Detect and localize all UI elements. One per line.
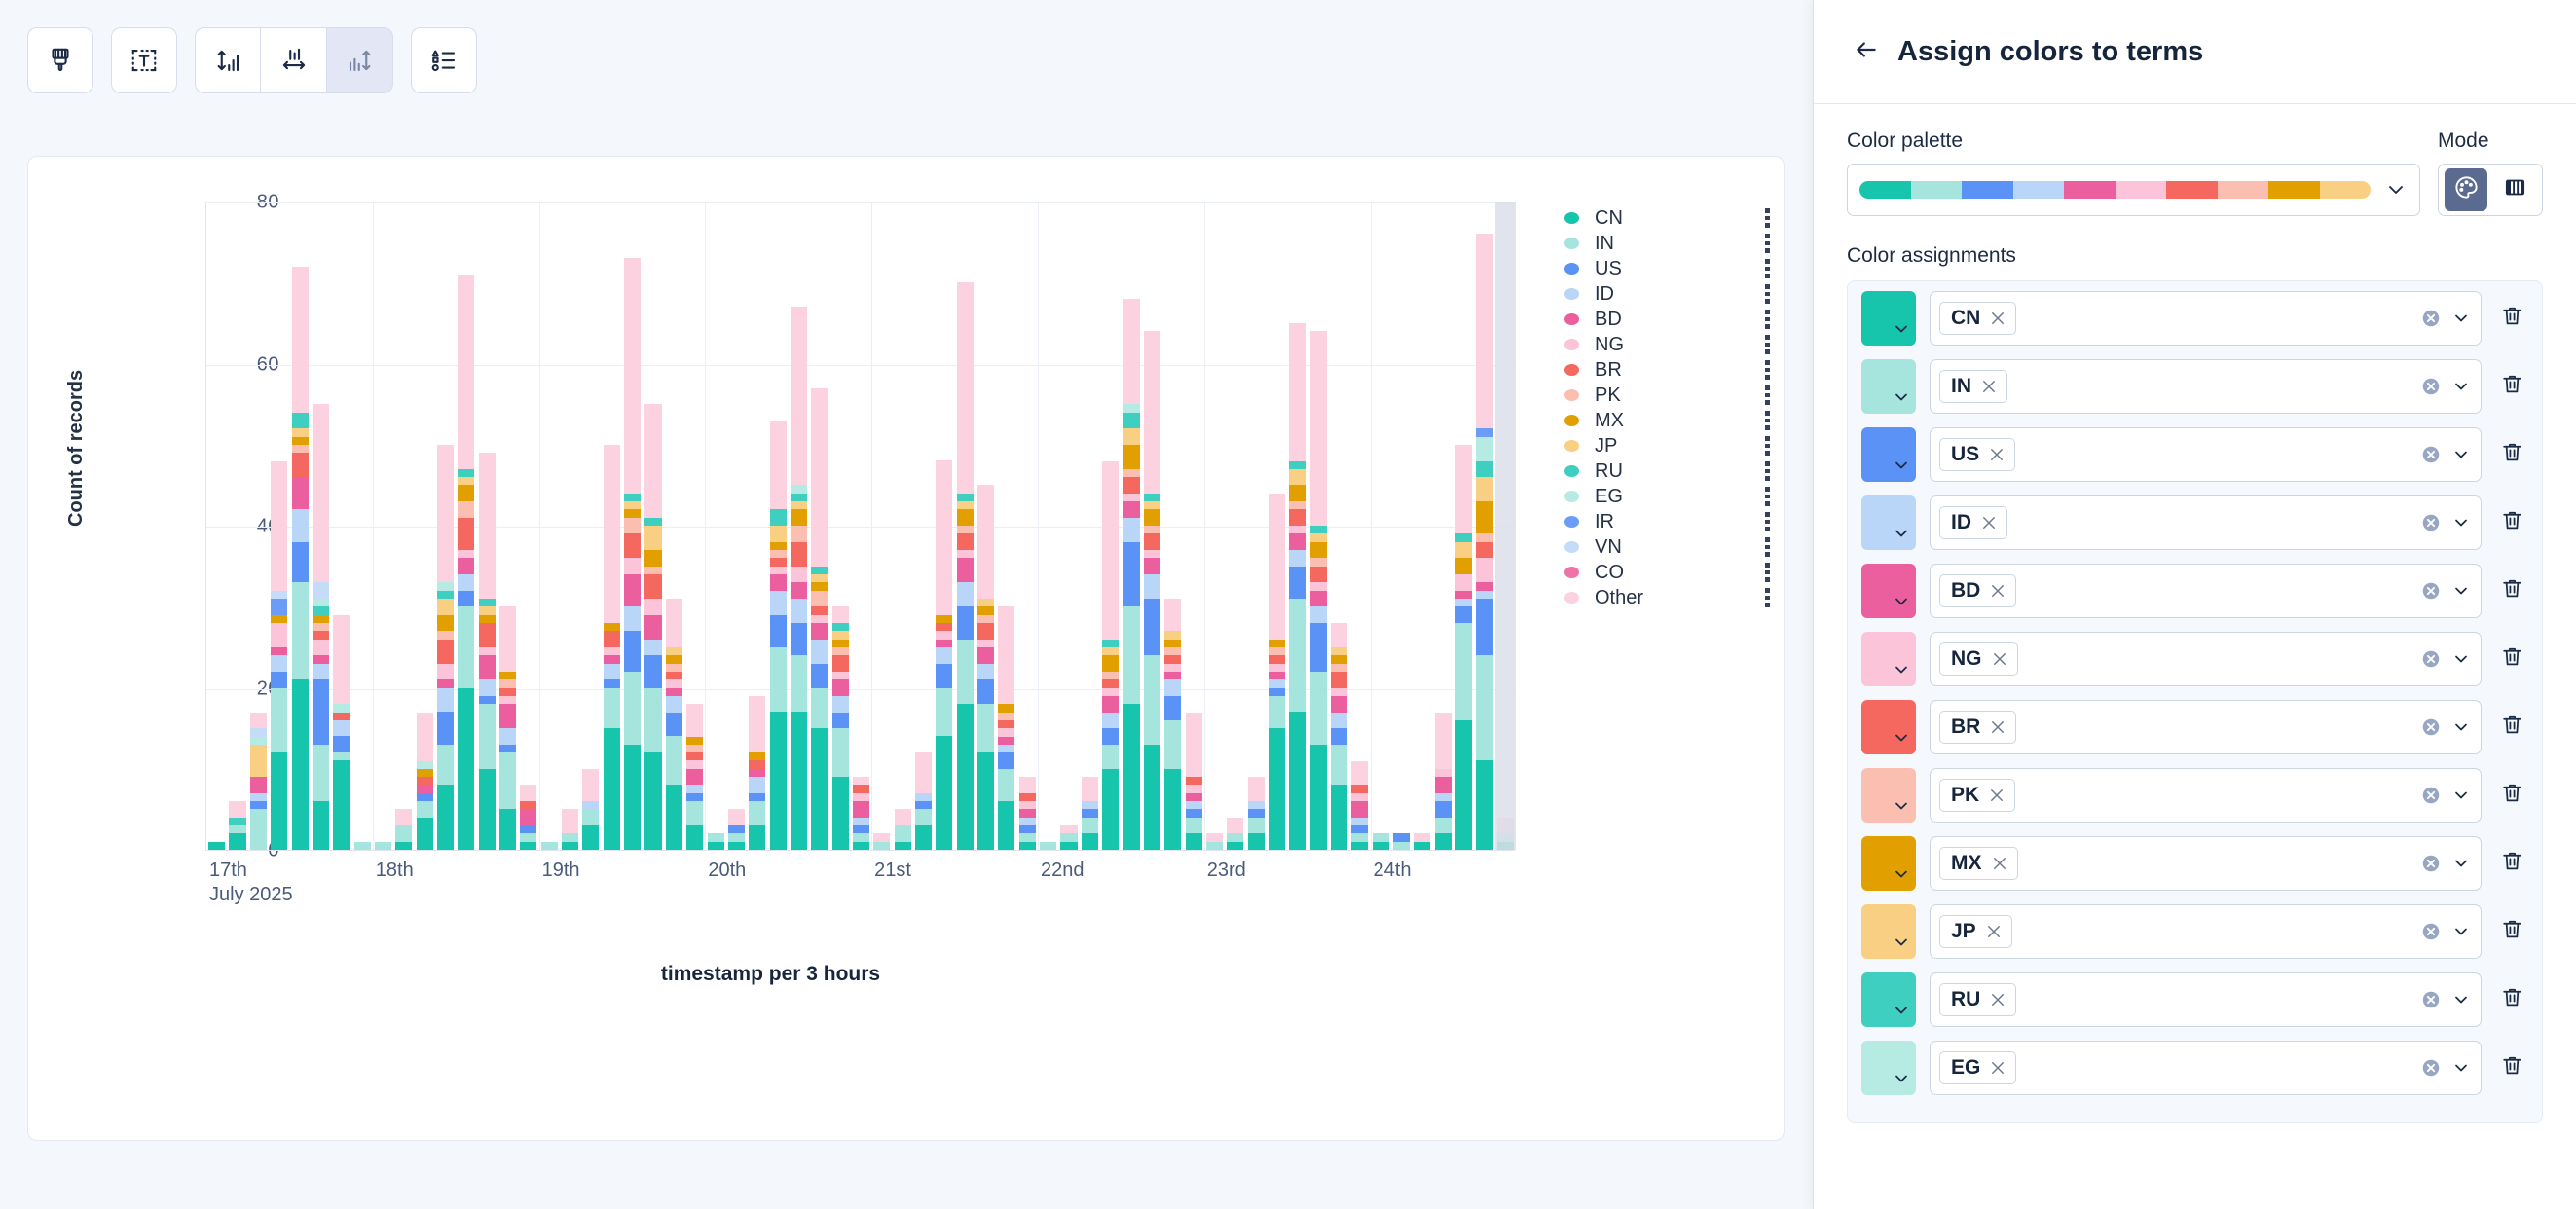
palette-mode-button[interactable] <box>2445 168 2487 211</box>
bar-segment[interactable] <box>1123 413 1140 429</box>
bar-segment[interactable] <box>499 704 516 728</box>
legend-item-menu-icon[interactable] <box>1760 310 1774 329</box>
stacked-bar[interactable] <box>1351 760 1368 850</box>
bar-segment[interactable] <box>1269 640 1285 647</box>
bar-segment[interactable] <box>1102 640 1119 647</box>
bar-segment[interactable] <box>1019 801 1036 809</box>
text-box-icon-button[interactable] <box>111 27 177 93</box>
bar-segment[interactable] <box>791 485 807 493</box>
color-swatch-picker-pk[interactable] <box>1861 768 1916 823</box>
stacked-bar[interactable] <box>1040 842 1056 850</box>
color-swatch-picker-us[interactable] <box>1861 427 1916 482</box>
bar-segment[interactable] <box>832 672 849 679</box>
chart-sort-icon-button[interactable] <box>327 27 393 93</box>
remove-term-icon[interactable] <box>1988 446 2006 463</box>
bar-segment[interactable] <box>853 785 869 792</box>
bar-segment[interactable] <box>1123 299 1140 404</box>
bar-segment[interactable] <box>271 672 287 688</box>
bar-segment[interactable] <box>1019 809 1036 817</box>
bar-segment[interactable] <box>895 842 911 850</box>
bar-segment[interactable] <box>977 615 994 623</box>
bar-segment[interactable] <box>313 801 329 850</box>
bar-segment[interactable] <box>624 509 641 517</box>
bar-segment[interactable] <box>1476 533 1492 541</box>
bar-segment[interactable] <box>1331 785 1347 850</box>
bar-segment[interactable] <box>1331 664 1347 672</box>
legend-item-br[interactable]: BR <box>1564 357 1774 383</box>
bar-segment[interactable] <box>499 679 516 687</box>
bar-segment[interactable] <box>811 591 828 607</box>
bar-segment[interactable] <box>313 606 329 614</box>
bar-segment[interactable] <box>604 623 620 631</box>
term-combobox-jp[interactable]: JP <box>1930 904 2482 959</box>
stacked-bar[interactable] <box>957 282 974 850</box>
delete-assignment-button[interactable] <box>2495 440 2528 469</box>
bar-segment[interactable] <box>1144 745 1160 850</box>
color-swatch-picker-ng[interactable] <box>1861 632 1916 686</box>
bar-segment[interactable] <box>915 793 932 801</box>
bar-segment[interactable] <box>1164 655 1181 663</box>
bar-segment[interactable] <box>417 761 433 769</box>
legend-item-menu-icon[interactable] <box>1760 487 1774 506</box>
bar-segment[interactable] <box>1435 801 1452 818</box>
bar-segment[interactable] <box>791 567 807 583</box>
bar-segment[interactable] <box>292 437 309 445</box>
bar-segment[interactable] <box>873 833 890 841</box>
chart-vertical-axis-icon-button[interactable] <box>195 27 261 93</box>
bar-segment[interactable] <box>1164 599 1181 631</box>
stacked-bar[interactable] <box>604 445 620 850</box>
bar-segment[interactable] <box>1289 533 1306 550</box>
bar-segment[interactable] <box>1331 713 1347 729</box>
stacked-bar[interactable] <box>1455 445 1472 850</box>
bar-segment[interactable] <box>1248 818 1265 834</box>
bar-segment[interactable] <box>479 679 496 696</box>
bar-segment[interactable] <box>458 477 474 485</box>
bar-segment[interactable] <box>977 640 994 647</box>
bar-segment[interactable] <box>832 777 849 850</box>
bar-segment[interactable] <box>624 745 641 850</box>
bar-segment[interactable] <box>1123 469 1140 477</box>
bar-segment[interactable] <box>250 713 267 729</box>
stacked-bar[interactable] <box>728 809 745 850</box>
bar-segment[interactable] <box>437 582 454 590</box>
bar-segment[interactable] <box>333 720 350 737</box>
bar-segment[interactable] <box>770 526 787 542</box>
remove-term-icon[interactable] <box>1991 855 2008 872</box>
bar-segment[interactable] <box>1123 494 1140 501</box>
bar-segment[interactable] <box>770 712 787 850</box>
bar-segment[interactable] <box>1351 761 1368 786</box>
bar-segment[interactable] <box>853 842 869 850</box>
stacked-bar[interactable] <box>417 712 433 850</box>
bar-segment[interactable] <box>1455 720 1472 850</box>
bar-segment[interactable] <box>417 801 433 818</box>
bar-segment[interactable] <box>957 533 974 550</box>
bar-segment[interactable] <box>1269 494 1285 640</box>
bar-segment[interactable] <box>1144 331 1160 493</box>
stacked-bar[interactable] <box>1206 833 1223 850</box>
bar-segment[interactable] <box>873 842 890 850</box>
bar-segment[interactable] <box>853 801 869 818</box>
bar-segment[interactable] <box>1351 793 1368 801</box>
bar-segment[interactable] <box>1269 672 1285 679</box>
bar-segment[interactable] <box>1082 801 1098 809</box>
bar-segment[interactable] <box>791 582 807 599</box>
term-combobox-in[interactable]: IN <box>1930 359 2482 414</box>
stacked-bar[interactable] <box>686 704 703 850</box>
bar-segment[interactable] <box>1186 833 1202 850</box>
bar-segment[interactable] <box>1310 567 1327 583</box>
bar-segment[interactable] <box>250 809 267 850</box>
stacked-bar[interactable] <box>1227 818 1243 850</box>
legend-item-id[interactable]: ID <box>1564 281 1774 307</box>
bar-segment[interactable] <box>957 582 974 606</box>
bar-segment[interactable] <box>458 275 474 469</box>
bar-segment[interactable] <box>977 623 994 640</box>
bar-segment[interactable] <box>292 453 309 477</box>
chevron-down-icon[interactable] <box>2451 854 2471 873</box>
bar-segment[interactable] <box>333 713 350 720</box>
bar-segment[interactable] <box>1393 842 1410 850</box>
bar-segment[interactable] <box>499 688 516 696</box>
stacked-bar[interactable] <box>1082 777 1098 850</box>
stacked-bar[interactable] <box>479 453 496 850</box>
bar-segment[interactable] <box>791 509 807 526</box>
bar-segment[interactable] <box>1227 842 1243 850</box>
bar-segment[interactable] <box>1102 696 1119 713</box>
bar-segment[interactable] <box>1435 713 1452 769</box>
bar-segment[interactable] <box>437 785 454 850</box>
bar-segment[interactable] <box>582 809 599 825</box>
bar-segment[interactable] <box>520 809 536 825</box>
bar-segment[interactable] <box>1476 599 1492 655</box>
clear-selection-icon[interactable] <box>2420 1057 2442 1079</box>
bar-segment[interactable] <box>1102 688 1119 696</box>
bar-segment[interactable] <box>998 745 1014 752</box>
bar-segment[interactable] <box>1289 323 1306 461</box>
bar-segment[interactable] <box>1186 809 1202 817</box>
bar-segment[interactable] <box>1102 647 1119 655</box>
bar-segment[interactable] <box>1123 606 1140 704</box>
bar-segment[interactable] <box>728 825 745 833</box>
bar-segment[interactable] <box>1102 745 1119 769</box>
bar-segment[interactable] <box>1455 574 1472 591</box>
bar-segment[interactable] <box>1164 647 1181 655</box>
bar-segment[interactable] <box>417 777 433 785</box>
bar-segment[interactable] <box>604 445 620 623</box>
bar-segment[interactable] <box>1269 696 1285 728</box>
bar-segment[interactable] <box>770 647 787 713</box>
bar-segment[interactable] <box>666 696 682 713</box>
bar-segment[interactable] <box>624 558 641 574</box>
bar-segment[interactable] <box>957 550 974 558</box>
bar-segment[interactable] <box>811 623 828 640</box>
bar-segment[interactable] <box>1455 542 1472 559</box>
delete-assignment-button[interactable] <box>2495 917 2528 946</box>
bar-segment[interactable] <box>458 550 474 558</box>
bar-segment[interactable] <box>915 809 932 825</box>
bar-segment[interactable] <box>1455 606 1472 623</box>
bar-segment[interactable] <box>1310 623 1327 672</box>
bar-segment[interactable] <box>1186 818 1202 834</box>
bar-segment[interactable] <box>728 809 745 825</box>
stacked-bar[interactable] <box>1248 777 1265 850</box>
bar-segment[interactable] <box>1082 809 1098 817</box>
clear-selection-icon[interactable] <box>2420 308 2442 329</box>
bar-segment[interactable] <box>1351 785 1368 792</box>
bar-segment[interactable] <box>1019 833 1036 841</box>
chevron-down-icon[interactable] <box>2451 786 2471 805</box>
bar-segment[interactable] <box>644 404 661 518</box>
bar-segment[interactable] <box>437 615 454 632</box>
bar-segment[interactable] <box>791 526 807 542</box>
bar-segment[interactable] <box>1123 501 1140 518</box>
bar-segment[interactable] <box>832 713 849 729</box>
bar-segment[interactable] <box>458 485 474 501</box>
bar-segment[interactable] <box>250 728 267 736</box>
bar-segment[interactable] <box>936 688 952 737</box>
bar-segment[interactable] <box>271 615 287 623</box>
bar-segment[interactable] <box>1393 833 1410 841</box>
bar-segment[interactable] <box>1102 672 1119 679</box>
bar-segment[interactable] <box>915 825 932 850</box>
delete-assignment-button[interactable] <box>2495 1053 2528 1082</box>
bar-segment[interactable] <box>1331 728 1347 745</box>
bar-segment[interactable] <box>333 736 350 752</box>
chevron-down-icon[interactable] <box>2451 309 2471 328</box>
bar-segment[interactable] <box>1248 777 1265 801</box>
bar-segment[interactable] <box>936 615 952 623</box>
stacked-bar[interactable] <box>1289 323 1306 850</box>
bar-segment[interactable] <box>1164 696 1181 720</box>
bar-segment[interactable] <box>770 509 787 526</box>
bar-segment[interactable] <box>1060 842 1077 850</box>
stacked-bar[interactable] <box>811 387 828 850</box>
bar-segment[interactable] <box>1144 599 1160 655</box>
bar-segment[interactable] <box>479 696 496 704</box>
bar-segment[interactable] <box>666 672 682 679</box>
bar-segment[interactable] <box>1269 728 1285 850</box>
bar-segment[interactable] <box>811 664 828 688</box>
bar-segment[interactable] <box>437 631 454 639</box>
bar-segment[interactable] <box>479 769 496 850</box>
bar-segment[interactable] <box>292 679 309 850</box>
bar-segment[interactable] <box>666 688 682 696</box>
bar-segment[interactable] <box>479 599 496 606</box>
term-combobox-ru[interactable]: RU <box>1930 972 2482 1027</box>
bar-segment[interactable] <box>811 606 828 614</box>
bar-segment[interactable] <box>375 842 391 850</box>
term-combobox-bd[interactable]: BD <box>1930 564 2482 618</box>
bar-segment[interactable] <box>977 599 994 606</box>
bar-segment[interactable] <box>624 258 641 493</box>
stacked-bar[interactable] <box>832 606 849 850</box>
bar-segment[interactable] <box>313 664 329 680</box>
bar-segment[interactable] <box>957 558 974 582</box>
bar-segment[interactable] <box>1269 655 1285 663</box>
stacked-bar[interactable] <box>853 777 869 850</box>
bar-segment[interactable] <box>417 713 433 761</box>
bar-segment[interactable] <box>229 825 245 833</box>
bar-segment[interactable] <box>624 672 641 745</box>
bar-segment[interactable] <box>271 461 287 591</box>
bar-segment[interactable] <box>686 801 703 825</box>
bar-segment[interactable] <box>417 769 433 777</box>
bar-segment[interactable] <box>1414 842 1430 850</box>
bar-segment[interactable] <box>998 737 1014 745</box>
bar-segment[interactable] <box>250 801 267 809</box>
bar-segment[interactable] <box>998 713 1014 720</box>
bar-segment[interactable] <box>604 679 620 687</box>
bar-segment[interactable] <box>624 501 641 509</box>
bar-segment[interactable] <box>998 606 1014 704</box>
legend-item-other[interactable]: Other <box>1564 585 1774 610</box>
bar-segment[interactable] <box>1476 655 1492 760</box>
bar-segment[interactable] <box>998 752 1014 769</box>
term-combobox-eg[interactable]: EG <box>1930 1041 2482 1095</box>
bar-segment[interactable] <box>499 672 516 679</box>
bar-segment[interactable] <box>1123 445 1140 469</box>
stacked-bar[interactable] <box>873 833 890 850</box>
stacked-bar[interactable] <box>313 404 329 850</box>
bar-segment[interactable] <box>832 728 849 777</box>
bar-segment[interactable] <box>1310 606 1327 623</box>
bar-segment[interactable] <box>1289 526 1306 533</box>
bar-segment[interactable] <box>998 720 1014 728</box>
bar-segment[interactable] <box>770 591 787 615</box>
bar-segment[interactable] <box>333 615 350 705</box>
bar-segment[interactable] <box>458 518 474 550</box>
bar-segment[interactable] <box>811 388 828 567</box>
bar-segment[interactable] <box>811 688 828 729</box>
term-combobox-pk[interactable]: PK <box>1930 768 2482 823</box>
bar-segment[interactable] <box>458 688 474 850</box>
bar-segment[interactable] <box>479 615 496 623</box>
bar-segment[interactable] <box>977 606 994 614</box>
chevron-down-icon[interactable] <box>2451 445 2471 464</box>
bar-segment[interactable] <box>1476 477 1492 501</box>
bar-segment[interactable] <box>1289 509 1306 526</box>
color-swatch-picker-cn[interactable] <box>1861 291 1916 346</box>
bar-segment[interactable] <box>1289 567 1306 599</box>
bar-segment[interactable] <box>666 664 682 672</box>
bar-segment[interactable] <box>1060 833 1077 841</box>
bar-segment[interactable] <box>292 428 309 436</box>
bar-segment[interactable] <box>271 752 287 850</box>
bar-segment[interactable] <box>644 574 661 599</box>
bar-segment[interactable] <box>895 809 911 825</box>
bar-segment[interactable] <box>770 421 787 510</box>
stacked-bar[interactable] <box>1414 833 1430 850</box>
bar-segment[interactable] <box>853 793 869 801</box>
brush-icon-button[interactable] <box>27 27 93 93</box>
stacked-bar[interactable] <box>333 615 350 850</box>
term-combobox-mx[interactable]: MX <box>1930 836 2482 891</box>
clear-selection-icon[interactable] <box>2420 512 2442 533</box>
color-swatch-picker-ru[interactable] <box>1861 972 1916 1027</box>
stacked-bar[interactable] <box>624 258 641 850</box>
bar-segment[interactable] <box>499 606 516 672</box>
bar-segment[interactable] <box>271 655 287 672</box>
bar-segment[interactable] <box>1351 801 1368 818</box>
bar-segment[interactable] <box>313 599 329 606</box>
bar-segment[interactable] <box>644 615 661 640</box>
bar-segment[interactable] <box>1476 461 1492 478</box>
delete-assignment-button[interactable] <box>2495 781 2528 810</box>
bar-segment[interactable] <box>1248 801 1265 809</box>
bar-segment[interactable] <box>915 752 932 793</box>
bar-segment[interactable] <box>562 842 578 850</box>
bar-segment[interactable] <box>936 460 952 614</box>
delete-assignment-button[interactable] <box>2495 576 2528 605</box>
bar-segment[interactable] <box>666 655 682 663</box>
bar-segment[interactable] <box>1331 745 1347 786</box>
bar-segment[interactable] <box>1186 785 1202 792</box>
bar-segment[interactable] <box>1269 647 1285 655</box>
delete-assignment-button[interactable] <box>2495 849 2528 878</box>
bar-segment[interactable] <box>728 833 745 841</box>
bar-segment[interactable] <box>832 679 849 696</box>
bar-segment[interactable] <box>1102 655 1119 672</box>
bar-segment[interactable] <box>936 640 952 647</box>
bar-segment[interactable] <box>686 704 703 736</box>
clear-selection-icon[interactable] <box>2420 580 2442 602</box>
bar-segment[interactable] <box>998 704 1014 712</box>
bar-segment[interactable] <box>1476 234 1492 428</box>
bar-segment[interactable] <box>1144 509 1160 526</box>
bar-segment[interactable] <box>417 785 433 792</box>
bar-segment[interactable] <box>354 842 371 850</box>
legend-item-ng[interactable]: NG <box>1564 332 1774 357</box>
bar-segment[interactable] <box>624 574 641 606</box>
bar-segment[interactable] <box>604 728 620 850</box>
clear-selection-icon[interactable] <box>2420 444 2442 465</box>
bar-segment[interactable] <box>686 769 703 786</box>
bar-segment[interactable] <box>977 752 994 850</box>
bar-segment[interactable] <box>1455 623 1472 720</box>
bar-segment[interactable] <box>853 825 869 833</box>
bar-segment[interactable] <box>1435 818 1452 834</box>
bar-segment[interactable] <box>437 688 454 713</box>
color-swatch-picker-bd[interactable] <box>1861 564 1916 618</box>
color-swatch-picker-in[interactable] <box>1861 359 1916 414</box>
remove-term-icon[interactable] <box>1980 378 1998 395</box>
bar-segment[interactable] <box>1289 469 1306 486</box>
bar-segment[interactable] <box>1186 793 1202 801</box>
bar-segment[interactable] <box>749 793 765 801</box>
legend-item-ir[interactable]: IR <box>1564 509 1774 534</box>
bar-segment[interactable] <box>1144 550 1160 558</box>
bar-segment[interactable] <box>271 599 287 615</box>
bar-segment[interactable] <box>1144 558 1160 574</box>
bar-segment[interactable] <box>770 574 787 591</box>
bar-segment[interactable] <box>479 453 496 599</box>
delete-assignment-button[interactable] <box>2495 304 2528 333</box>
bar-segment[interactable] <box>499 745 516 752</box>
bar-segment[interactable] <box>1019 777 1036 793</box>
bar-segment[interactable] <box>520 801 536 809</box>
bar-segment[interactable] <box>686 745 703 752</box>
bar-segment[interactable] <box>936 631 952 639</box>
bar-segment[interactable] <box>811 615 828 623</box>
bar-segment[interactable] <box>499 728 516 745</box>
bar-segment[interactable] <box>624 533 641 558</box>
term-combobox-cn[interactable]: CN <box>1930 291 2482 346</box>
bar-segment[interactable] <box>479 655 496 679</box>
clear-selection-icon[interactable] <box>2420 648 2442 670</box>
term-combobox-ng[interactable]: NG <box>1930 632 2482 686</box>
